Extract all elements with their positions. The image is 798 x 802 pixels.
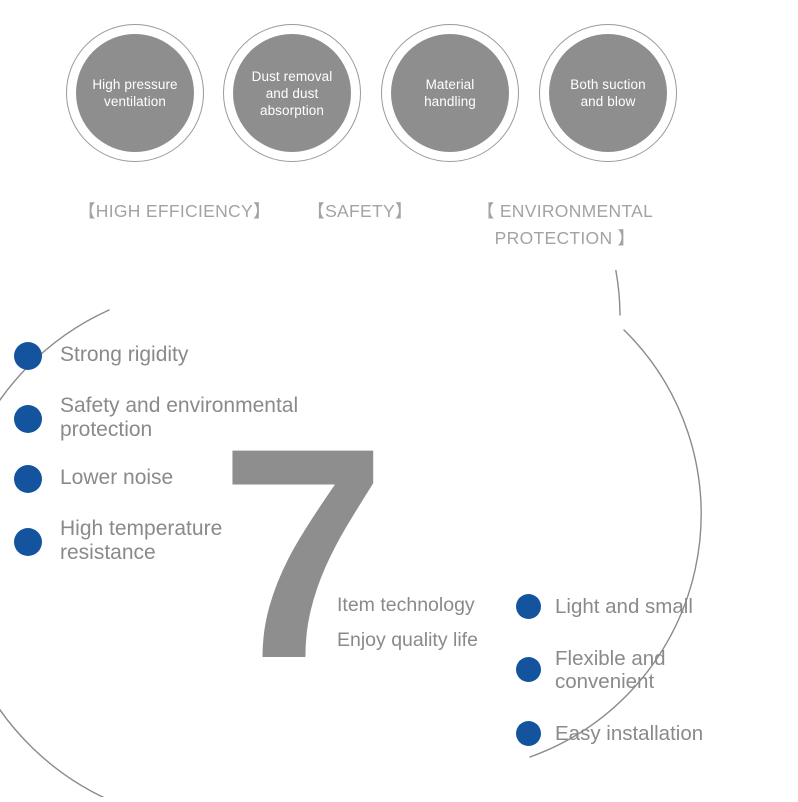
bullet-dot-icon — [14, 405, 42, 433]
bullet-dot-icon — [14, 465, 42, 493]
bullet-item-safety-environmental-protection[interactable]: Safety and environmental protection — [14, 393, 344, 442]
bullet-item-easy-installation[interactable]: Easy installation — [516, 721, 796, 746]
category-label-high-efficiency: 【HIGH EFFICIENCY】 — [78, 198, 268, 225]
feature-circle-material-handling[interactable]: Material handling — [381, 24, 519, 162]
bullet-label: Strong rigidity — [60, 342, 188, 367]
bullet-dot-icon — [14, 528, 42, 556]
bullet-item-light-and-small[interactable]: Light and small — [516, 594, 796, 619]
bullet-label: Safety and environmental protection — [60, 393, 310, 442]
feature-circle-core: Both suction and blow — [549, 34, 667, 152]
bullet-label: Flexible and convenient — [555, 646, 695, 693]
feature-circle-suction-and-blow[interactable]: Both suction and blow — [539, 24, 677, 162]
feature-circle-label: Material handling — [391, 76, 509, 110]
bullet-label: High temperature resistance — [60, 516, 310, 565]
feature-circle-label: Dust removal and dust absorption — [233, 68, 351, 119]
bullet-list-left: Strong rigidity Safety and environmental… — [14, 336, 344, 565]
bullet-dot-icon — [516, 657, 541, 682]
tagline-line-1: Item technology — [337, 588, 517, 623]
feature-circle-label: Both suction and blow — [549, 76, 667, 110]
bullet-dot-icon — [516, 721, 541, 746]
bullet-item-lower-noise[interactable]: Lower noise — [14, 465, 344, 493]
bullet-item-flexible-and-convenient[interactable]: Flexible and convenient — [516, 646, 796, 693]
bullet-dot-icon — [14, 342, 42, 370]
ring-arc-top — [112, 270, 620, 315]
bullet-item-high-temperature-resistance[interactable]: High temperature resistance — [14, 516, 344, 565]
feature-circle-core: Dust removal and dust absorption — [233, 34, 351, 152]
tagline: Item technology Enjoy quality life — [337, 588, 517, 658]
category-label-safety: 【SAFETY】 — [272, 198, 448, 225]
bullet-item-strong-rigidity[interactable]: Strong rigidity — [14, 342, 344, 370]
feature-circle-high-pressure-ventilation[interactable]: High pressure ventilation — [66, 24, 204, 162]
tagline-line-2: Enjoy quality life — [337, 623, 517, 658]
bullet-list-right: Light and small Flexible and convenient … — [516, 590, 796, 746]
feature-circle-label: High pressure ventilation — [76, 76, 194, 110]
feature-circle-core: High pressure ventilation — [76, 34, 194, 152]
feature-circle-core: Material handling — [391, 34, 509, 152]
bullet-dot-icon — [516, 594, 541, 619]
bullet-label: Light and small — [555, 594, 693, 618]
bullet-label: Lower noise — [60, 465, 173, 490]
feature-circles-row: High pressure ventilation Dust removal a… — [0, 0, 798, 190]
category-label-environmental-protection: 【 ENVIRONMENTAL PROTECTION 】 — [444, 198, 686, 252]
feature-circle-dust-removal[interactable]: Dust removal and dust absorption — [223, 24, 361, 162]
bullet-label: Easy installation — [555, 721, 703, 745]
